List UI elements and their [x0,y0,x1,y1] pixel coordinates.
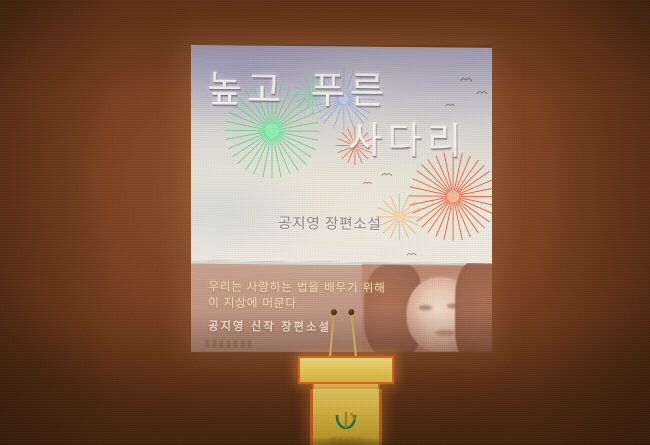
room-vignette [0,0,650,445]
photograph-scene: 높고 푸른 사다리 공지영 장편소설 우리는 사랑하는 [0,0,650,445]
